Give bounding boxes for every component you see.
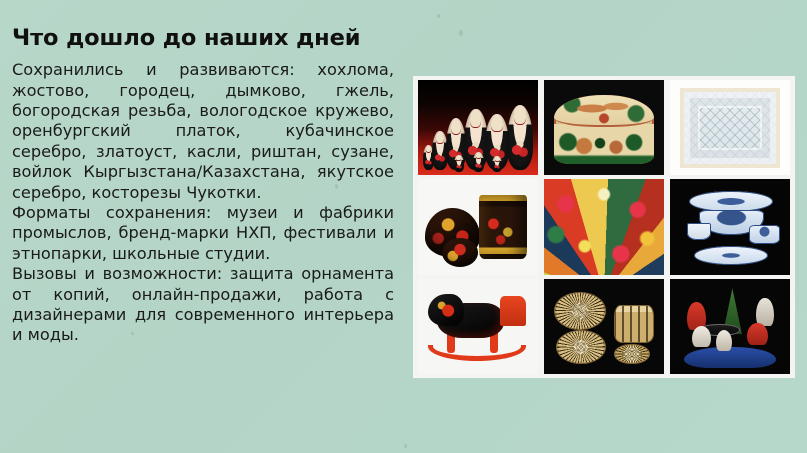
body-paragraph-1: Сохранились и развиваются: хохлома, жост… [12, 60, 394, 203]
carved-round-lid [554, 292, 607, 330]
khokhloma-mug [479, 195, 527, 260]
matryoshka-dolls-image [418, 80, 538, 175]
image-cell-khokhloma-lacquerware [418, 179, 538, 274]
rocking-horse-seat [500, 296, 526, 327]
background-speck-icon [404, 444, 407, 448]
carved-bone-boxes-image [544, 279, 664, 374]
slide-canvas: Что дошло до наших дней Сохранились и ра… [0, 0, 807, 453]
gzhel-cup [687, 223, 711, 240]
slide-text-column: Что дошло до наших дней Сохранились и ра… [12, 26, 394, 346]
painted-oval-box-image [544, 80, 664, 175]
page-title: Что дошло до наших дней [12, 26, 394, 51]
shawl-floral-pattern [544, 179, 664, 274]
dymkovo-figure [716, 330, 733, 351]
dymkovo-base [684, 347, 775, 368]
image-cell-vologda-lace-shawl [670, 80, 790, 175]
lace-shawl-shape [680, 88, 781, 168]
body-paragraph-3: Вызовы и возможности: защита орнамента о… [12, 264, 394, 346]
background-speck-icon [459, 30, 463, 36]
khokhloma-lid [442, 238, 478, 267]
gzhel-oval-dish [694, 246, 768, 265]
background-speck-icon [437, 14, 440, 18]
image-cell-gzhel-porcelain [670, 179, 790, 274]
oval-box-body [554, 124, 655, 164]
khokhloma-lacquerware-image [418, 179, 538, 274]
image-cell-painted-oval-box [544, 80, 664, 175]
gzhel-porcelain-image [670, 179, 790, 274]
carved-cylinder-box [614, 305, 655, 343]
image-cell-gorodets-rocking-horse [418, 279, 538, 374]
rocking-horse-rails [428, 345, 526, 360]
image-cell-matryoshka-dolls [418, 80, 538, 175]
pavlovo-posad-shawl-image [544, 179, 664, 274]
matryoshka-doll-figure [473, 152, 484, 171]
carved-round-box [556, 330, 606, 364]
matryoshka-doll-figure [507, 105, 533, 170]
image-cell-carved-bone-boxes [544, 279, 664, 374]
dymkovo-figurines-image [670, 279, 790, 374]
dymkovo-figure [756, 298, 774, 327]
gorodets-rocking-horse-image [418, 279, 538, 374]
image-cell-dymkovo-figurines [670, 279, 790, 374]
vologda-lace-shawl-image [670, 80, 790, 175]
matryoshka-doll-figure [492, 156, 502, 171]
gzhel-sugar-bowl [749, 225, 780, 244]
dymkovo-figure [692, 326, 711, 347]
carved-small-dish [614, 344, 650, 365]
body-paragraph-2: Форматы сохранения: музеи и фабрики пром… [12, 203, 394, 264]
oval-box-shape [554, 95, 655, 164]
craft-image-grid [413, 76, 795, 378]
oval-box-lid [554, 95, 655, 127]
gzhel-platter [689, 191, 773, 212]
image-cell-pavlovo-posad-shawl [544, 179, 664, 274]
matryoshka-doll-figure [454, 155, 464, 171]
rocking-horse-head [428, 294, 464, 326]
